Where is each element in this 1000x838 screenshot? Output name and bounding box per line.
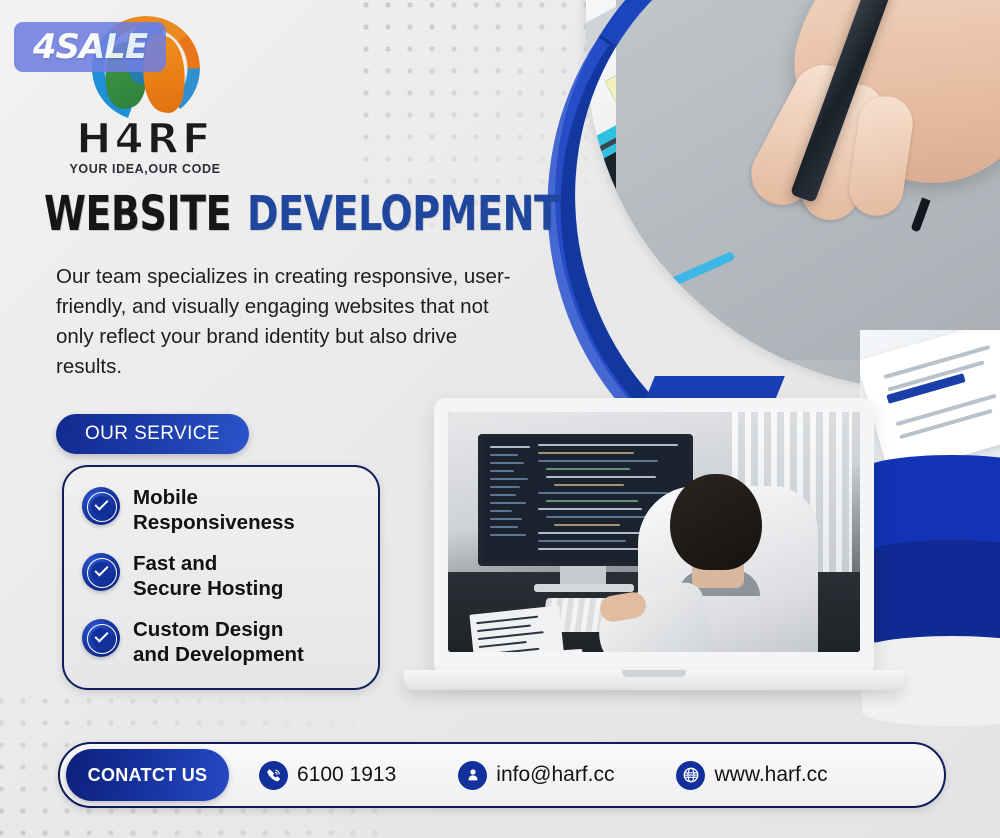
service-list-card: Mobile Responsiveness Fast and Secure Ho… (62, 465, 380, 690)
logo-wordmark: H4RF (40, 114, 250, 163)
service-item-label: Custom Design and Development (133, 617, 304, 667)
laptop-mockup (404, 398, 904, 708)
title-word-website: WEBSITE (44, 186, 231, 242)
laptop-screen-photo (448, 412, 860, 652)
service-item-line1: Custom Design (133, 617, 304, 642)
watermark-4sale: 4SALE (14, 22, 166, 72)
service-item-line1: Mobile (133, 485, 295, 510)
contact-email-text: info@harf.cc (496, 763, 614, 787)
contact-us-label: CONATCT US (88, 765, 208, 786)
poster-canvas: H4RF YOUR IDEA,OUR CODE 4SALE WEBSITEDEV… (0, 0, 1000, 838)
list-item: Fast and Secure Hosting (82, 551, 364, 601)
contact-us-badge: CONATCT US (66, 749, 229, 801)
contact-phone-text: 6100 1913 (297, 763, 396, 787)
our-service-badge: OUR SERVICE (56, 414, 249, 454)
list-item: Mobile Responsiveness (82, 485, 364, 535)
watermark-text: 4SALE (33, 27, 147, 67)
service-item-line2: Responsiveness (133, 510, 295, 535)
contact-website[interactable]: www.harf.cc (676, 761, 827, 790)
service-item-line2: Secure Hosting (133, 576, 283, 601)
globe-icon (676, 761, 705, 790)
phone-icon (259, 761, 288, 790)
service-item-label: Mobile Responsiveness (133, 485, 295, 535)
contact-email[interactable]: info@harf.cc (458, 761, 614, 790)
page-title: WEBSITEDEVELOPMENT (44, 186, 559, 242)
service-item-line2: and Development (133, 642, 304, 667)
check-circle-icon (82, 553, 120, 591)
logo-tagline: YOUR IDEA,OUR CODE (40, 162, 250, 176)
description-paragraph: Our team specializes in creating respons… (56, 262, 526, 382)
check-circle-icon (82, 487, 120, 525)
our-service-label: OUR SERVICE (85, 423, 220, 445)
list-item: Custom Design and Development (82, 617, 364, 667)
title-word-development: DEVELOPMENT (247, 186, 559, 242)
contact-phone[interactable]: 6100 1913 (259, 761, 396, 790)
service-item-label: Fast and Secure Hosting (133, 551, 283, 601)
service-item-line1: Fast and (133, 551, 283, 576)
user-icon (458, 761, 487, 790)
contact-bar: CONATCT US 6100 1913 info@harf.cc (58, 742, 946, 808)
contact-website-text: www.harf.cc (714, 763, 827, 787)
check-circle-icon (82, 619, 120, 657)
